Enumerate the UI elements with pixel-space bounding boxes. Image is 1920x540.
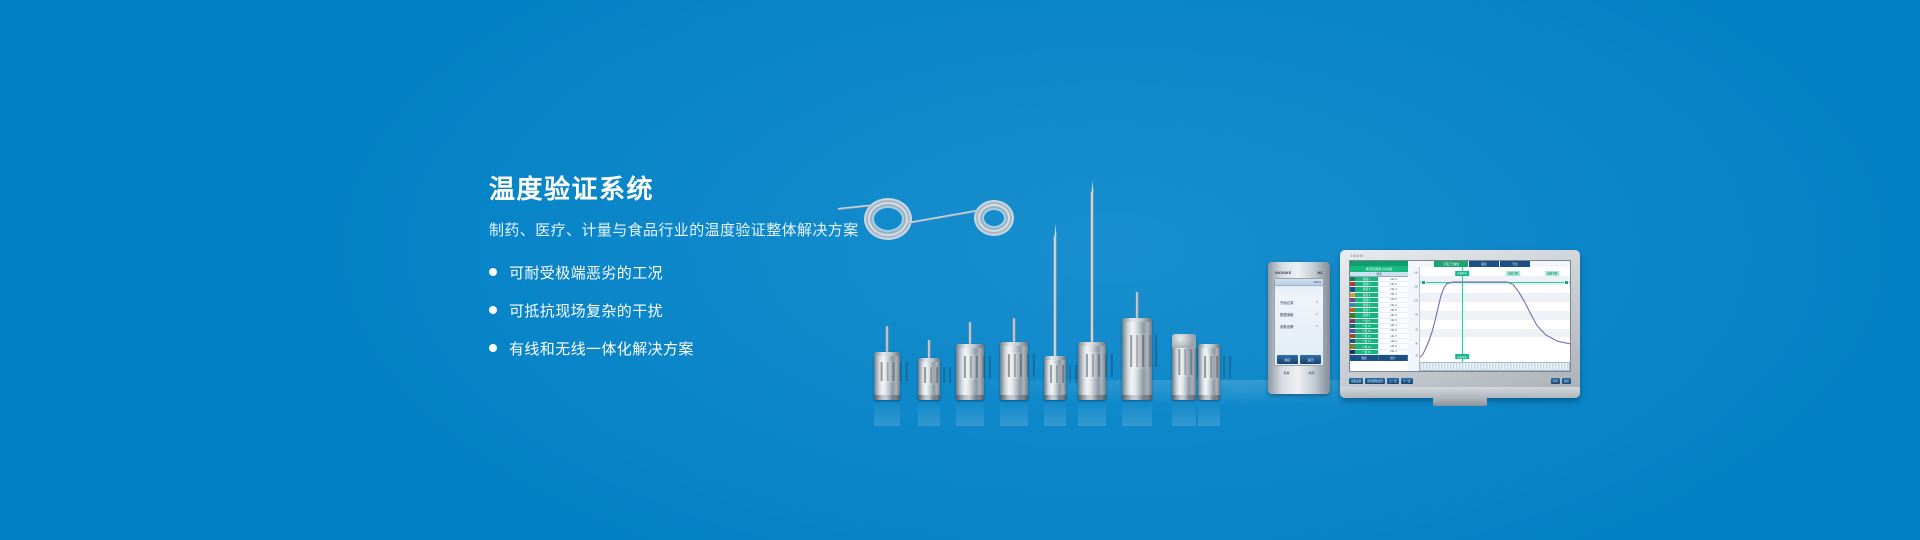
- logger-reflection: [1122, 400, 1152, 426]
- handheld-statusbar: 100%: [1275, 279, 1323, 286]
- chevron-right-icon: >: [1316, 324, 1318, 329]
- logger-stem: [928, 340, 931, 358]
- row-value: 121.7: [1378, 293, 1408, 297]
- logger-body: [1122, 318, 1152, 400]
- channel-table[interactable]: 通道温度数据 实时采集 通道 通道 1121.4 通道 2121.6 通道 31…: [1350, 261, 1408, 371]
- cable-coil-icon: [864, 198, 912, 240]
- logger-4: [1000, 324, 1028, 400]
- logger-label: [921, 366, 937, 385]
- hero-banner: 温度验证系统 制药、医疗、计量与食品行业的温度验证整体解决方案 可耐受极端恶劣的…: [0, 0, 1920, 540]
- monitor-toolbar[interactable]: 采集设置 通道参数设置 上一页 下一页 打印 退出: [1349, 378, 1571, 384]
- logger-body: [1078, 342, 1106, 400]
- monitor-stand: [1433, 397, 1487, 406]
- table-tab-stats[interactable]: 统计: [1379, 355, 1408, 361]
- row-value: 121.6: [1378, 282, 1408, 286]
- row-channel: 通道 5: [1355, 298, 1378, 302]
- bullet-dot-icon: [489, 306, 497, 314]
- monitor-display: INON 通道温度数据 实时采集 通道 通道 1121.4 通道 2121.6 …: [1340, 250, 1580, 398]
- logger-reflection: [1000, 400, 1028, 426]
- y-tick: 20: [1415, 355, 1418, 358]
- handheld-brand-row: INONIKE M1: [1274, 271, 1324, 278]
- toolbar-channel-settings[interactable]: 通道参数设置: [1365, 378, 1385, 384]
- logger-stem: [1013, 318, 1016, 342]
- y-tick: 140: [1414, 271, 1418, 274]
- logger-reflection: [1044, 400, 1066, 426]
- handheld-brand: INONIKE: [1275, 271, 1291, 275]
- toolbar-exit[interactable]: 退出: [1562, 378, 1571, 384]
- logger-needle: [1091, 192, 1094, 342]
- toolbar-print[interactable]: 打印: [1551, 378, 1560, 384]
- feature-label: 可抵抗现场复杂的干扰: [509, 300, 663, 321]
- monitor-brand: INON: [1351, 253, 1363, 258]
- logger-label: [1047, 364, 1063, 384]
- product-group-image: INONIKE M1 100% 开始记录 > 数据读取 >: [900, 150, 1540, 400]
- toolbar-acquisition-settings[interactable]: 采集设置: [1349, 378, 1363, 384]
- cable-coil-icon: [974, 200, 1014, 236]
- table-tab-data[interactable]: 数据: [1350, 355, 1379, 361]
- handheld-power-key[interactable]: 电源: [1308, 371, 1314, 375]
- bullet-dot-icon: [489, 344, 497, 352]
- logger-6: [1078, 328, 1106, 400]
- row-value: 121.3: [1378, 287, 1408, 291]
- logger-stem: [1136, 292, 1139, 318]
- logger-label: [960, 354, 980, 380]
- handheld-menu-key[interactable]: 菜单: [1283, 371, 1289, 375]
- logger-needle: [1054, 236, 1057, 356]
- handheld-battery-status: 100%: [1313, 280, 1321, 284]
- row-channel: 通道 1: [1355, 277, 1378, 281]
- handheld-menu-item[interactable]: 参数设置 >: [1280, 324, 1318, 329]
- logger-body: [918, 358, 940, 400]
- row-channel: 通道 7: [1355, 308, 1378, 312]
- logger-7: [1122, 296, 1152, 400]
- logger-label: [1082, 352, 1102, 379]
- row-channel: 通道 8: [1355, 313, 1378, 317]
- temperature-chart[interactable]: 开始时间 结束时间 灭菌上限 灭菌下限: [1419, 267, 1570, 362]
- row-channel: T 值 11: [1355, 329, 1378, 333]
- row-channel: 通道 3: [1355, 287, 1378, 291]
- logger-body: [874, 352, 900, 400]
- cable-wire: [908, 210, 977, 224]
- logger-1: [874, 338, 900, 400]
- handheld-reader[interactable]: INONIKE M1 100% 开始记录 > 数据读取 >: [1268, 262, 1330, 394]
- row-value: 121.1: [1378, 324, 1408, 328]
- menu-label: 参数设置: [1280, 324, 1294, 329]
- logger-stem: [886, 326, 889, 352]
- row-channel: T 值 12: [1355, 334, 1378, 338]
- table-footer-tabs[interactable]: 数据 统计: [1350, 355, 1408, 361]
- logger-reflection: [1172, 400, 1196, 426]
- row-value: 121.4: [1378, 277, 1408, 281]
- logger-label: [1201, 354, 1217, 380]
- logger-label: [878, 361, 897, 383]
- row-value: 121.2: [1378, 303, 1408, 307]
- row-channel: 通道 2: [1355, 282, 1378, 286]
- handheld-menu-item[interactable]: 数据读取 >: [1280, 312, 1318, 317]
- menu-label: 数据读取: [1280, 312, 1294, 317]
- row-value: 121.4: [1378, 350, 1408, 354]
- y-axis: 140 120 100 80 60 40 20: [1408, 267, 1419, 362]
- y-tick: 60: [1415, 328, 1418, 331]
- y-tick: 120: [1414, 285, 1418, 288]
- logger-5: [1044, 346, 1066, 400]
- menu-label: 开始记录: [1280, 300, 1294, 305]
- row-channel: 通道 4: [1355, 293, 1378, 297]
- row-value: 121.4: [1378, 313, 1408, 317]
- row-channel: 通道 6: [1355, 303, 1378, 307]
- feature-label: 有线和无线一体化解决方案: [509, 338, 694, 359]
- logger-label: [1175, 348, 1192, 377]
- row-channel: T 值 15: [1355, 350, 1378, 354]
- timeline-scrollbar[interactable]: [1419, 362, 1570, 371]
- logger-body: [956, 344, 984, 400]
- logger-reflection: [956, 400, 984, 426]
- sintered-filter-cap: [1172, 334, 1196, 348]
- row-value: 121.5: [1378, 329, 1408, 333]
- row-channel: T 值 13: [1355, 339, 1378, 343]
- chevron-right-icon: >: [1316, 300, 1318, 305]
- monitor-screen[interactable]: 通道温度数据 实时采集 通道 通道 1121.4 通道 2121.6 通道 31…: [1349, 260, 1571, 372]
- chevron-right-icon: >: [1316, 312, 1318, 317]
- toolbar-spacer: [1415, 378, 1549, 384]
- logger-body: [1044, 356, 1066, 400]
- logger-3: [956, 326, 984, 400]
- logger-reflection: [918, 400, 940, 426]
- temperature-curve: [1420, 267, 1570, 362]
- logger-label: [1004, 352, 1024, 379]
- y-tick: 40: [1415, 342, 1418, 345]
- handheld-confirm-button[interactable]: 确定: [1277, 355, 1298, 364]
- y-tick: 80: [1415, 314, 1418, 317]
- handheld-model: M1: [1318, 271, 1323, 275]
- handheld-buttonbar[interactable]: 确定 返回: [1275, 354, 1323, 365]
- logger-reflection: [874, 400, 900, 426]
- row-channel: T 值 14: [1355, 344, 1378, 348]
- row-value: 121.7: [1378, 334, 1408, 338]
- row-channel: T 值 10: [1355, 324, 1378, 328]
- logger-9: [1198, 344, 1220, 400]
- toolbar-prev-page[interactable]: 上一页: [1387, 378, 1399, 384]
- logger-body: [1198, 344, 1220, 400]
- row-channel: T 值 9: [1355, 319, 1378, 323]
- handheld-back-button[interactable]: 返回: [1300, 355, 1321, 364]
- logger-label: [1126, 333, 1148, 371]
- row-value: 121.5: [1378, 298, 1408, 302]
- logger-reflection: [1198, 400, 1220, 426]
- logger-2: [918, 344, 940, 400]
- chart-pane: 灭菌工艺曲线 报表 导出 140 120 100 80 60 40 20: [1408, 261, 1570, 371]
- toolbar-next-page[interactable]: 下一页: [1401, 378, 1413, 384]
- row-value: 121.3: [1378, 339, 1408, 343]
- row-value: 121.8: [1378, 308, 1408, 312]
- row-value: 121.6: [1378, 319, 1408, 323]
- logger-stem: [969, 322, 972, 344]
- bullet-dot-icon: [489, 268, 497, 276]
- logger-reflection: [1078, 400, 1106, 426]
- logger-body: [1000, 342, 1028, 400]
- handheld-menu-item[interactable]: 开始记录 >: [1280, 300, 1318, 305]
- handheld-screen[interactable]: 100% 开始记录 > 数据读取 > 参数设置 >: [1274, 278, 1324, 366]
- handheld-menu[interactable]: 开始记录 > 数据读取 > 参数设置 >: [1275, 286, 1323, 329]
- plot-area-wrapper: 140 120 100 80 60 40 20: [1408, 267, 1570, 362]
- handheld-keypad[interactable]: 菜单 电源: [1274, 371, 1324, 375]
- feature-label: 可耐受极端恶劣的工况: [509, 262, 663, 283]
- y-tick: 100: [1414, 300, 1418, 303]
- row-value: 121.6: [1378, 344, 1408, 348]
- logger-8: [1172, 336, 1196, 400]
